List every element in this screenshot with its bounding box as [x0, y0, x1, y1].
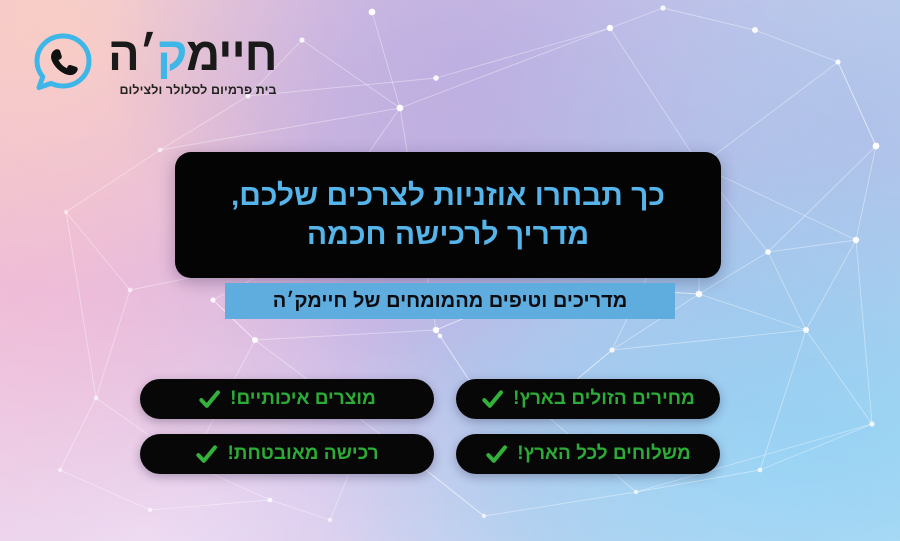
subtitle-bar: מדריכים וטיפים מהמומחים של חיימק׳ה: [225, 283, 675, 319]
logo-word-part-3: ׳ה: [108, 27, 157, 80]
headline-panel: כך תבחרו אוזניות לצרכים שלכם, מדריך לרכי…: [175, 152, 721, 278]
feature-badge-grid: מחירים הזולים בארץ! מוצרים איכותיים! משל…: [180, 379, 720, 474]
badge-secure-purchase: רכישה מאובטחת!: [140, 434, 434, 474]
headline-text: כך תבחרו אוזניות לצרכים שלכם, מדריך לרכי…: [205, 176, 691, 254]
badge-label: מוצרים איכותיים!: [230, 388, 376, 410]
logo-text-block: חיימק׳ה בית פרמיום לסלולר ולצילום: [108, 30, 277, 97]
check-icon: [481, 388, 504, 411]
badge-label: משלוחים לכל הארץ!: [517, 443, 690, 465]
logo-word-accent: ק: [157, 27, 187, 80]
logo-word-part-1: חיימ: [187, 27, 277, 80]
logo-tagline: בית פרמיום לסלולר ולצילום: [119, 84, 276, 97]
check-icon: [198, 388, 221, 411]
brand-logo[interactable]: חיימק׳ה בית פרמיום לסלולר ולצילום: [30, 30, 280, 97]
badge-cheapest-prices: מחירים הזולים בארץ!: [456, 379, 720, 419]
logo-wordmark: חיימק׳ה: [108, 30, 277, 77]
subtitle-text: מדריכים וטיפים מהמומחים של חיימק׳ה: [273, 290, 628, 313]
check-icon: [195, 443, 218, 466]
check-icon: [485, 443, 508, 466]
badge-label: מחירים הזולים בארץ!: [513, 388, 695, 410]
badge-quality-products: מוצרים איכותיים!: [140, 379, 434, 419]
phone-chat-bubble-icon: [30, 30, 96, 96]
badge-label: רכישה מאובטחת!: [227, 443, 378, 465]
badge-nationwide-shipping: משלוחים לכל הארץ!: [456, 434, 720, 474]
promo-banner: חיימק׳ה בית פרמיום לסלולר ולצילום כך תבח…: [0, 0, 900, 541]
